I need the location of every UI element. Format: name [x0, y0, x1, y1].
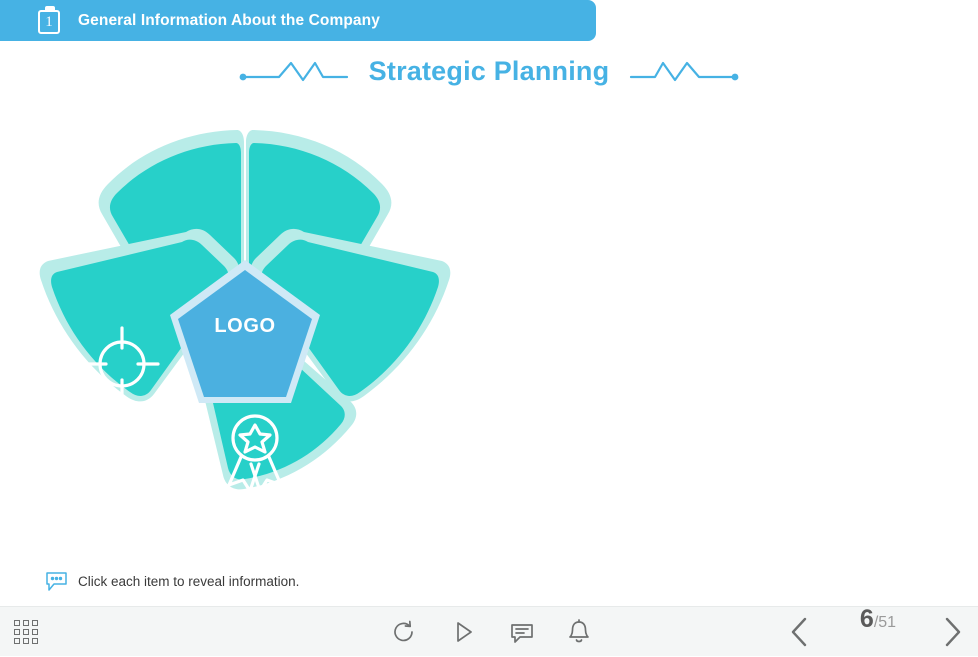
grid-icon	[14, 620, 38, 644]
page-title: Strategic Planning	[369, 56, 610, 87]
slide-title-row: Strategic Planning	[0, 50, 978, 92]
replay-icon	[391, 619, 417, 645]
section-title: General Information About the Company	[78, 12, 380, 30]
slide-hint: Click each item to reveal information.	[44, 570, 299, 592]
total-page-count: /51	[874, 615, 896, 631]
strategic-planning-diagram: LOGO	[38, 118, 452, 532]
play-button[interactable]	[443, 607, 483, 657]
slide-grid-button[interactable]	[6, 607, 46, 657]
slide-canvas: 1 General Information About the Company …	[0, 0, 978, 606]
zigzag-ornament-right	[627, 58, 739, 84]
current-page-number: 6	[860, 607, 874, 632]
notifications-button[interactable]	[559, 607, 599, 657]
page-indicator: 6 /51	[836, 607, 920, 657]
eye-icon	[333, 464, 405, 500]
previous-slide-button[interactable]	[780, 607, 820, 657]
section-number: 1	[38, 10, 60, 34]
logo-label: LOGO	[214, 315, 275, 337]
next-slide-button[interactable]	[932, 607, 972, 657]
replay-button[interactable]	[384, 607, 424, 657]
comment-button[interactable]	[502, 607, 542, 657]
clipboard-icon: 1	[38, 6, 64, 36]
chevron-left-icon	[786, 616, 814, 648]
speech-bubble-icon	[44, 570, 69, 592]
bell-icon	[566, 619, 592, 645]
zigzag-ornament-left	[239, 58, 351, 84]
player-toolbar: 6 /51	[0, 606, 978, 656]
chevron-right-icon	[938, 616, 966, 648]
presentation-player: 1 General Information About the Company …	[0, 0, 978, 656]
comment-icon	[509, 619, 535, 645]
slide-section-header: 1 General Information About the Company	[0, 0, 596, 41]
hint-text: Click each item to reveal information.	[78, 574, 299, 589]
play-icon	[450, 619, 476, 645]
